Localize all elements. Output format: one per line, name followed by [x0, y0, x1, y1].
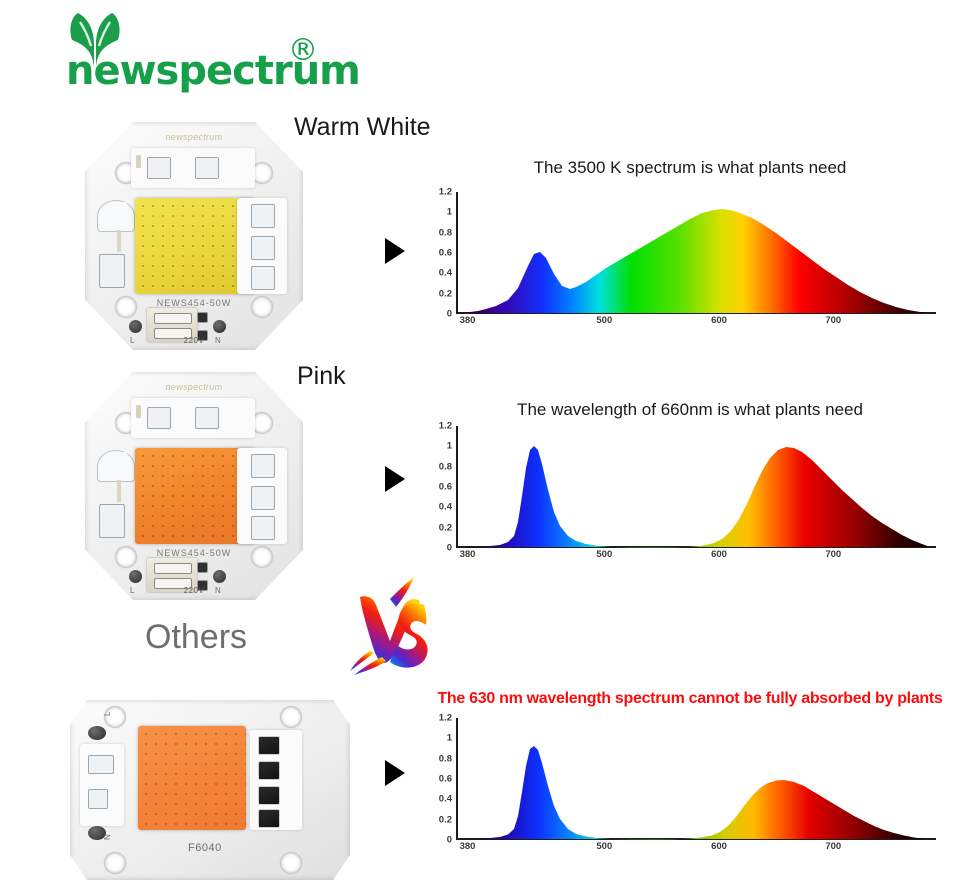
x-tick: 380 — [460, 549, 476, 560]
terminal-pad-live — [88, 726, 106, 740]
plot-area: 1.2 1 0.8 0.6 0.4 0.2 0 380 500 600 700 — [456, 192, 936, 314]
connector-slot — [154, 563, 192, 574]
x-tick: 380 — [460, 841, 476, 852]
chip-brand-mark: newspectrum — [166, 382, 223, 392]
chip-contact-block — [258, 761, 280, 780]
led-chip-warm-white: newspectrum NEWS454-50W L N 220V — [85, 122, 303, 350]
y-tick: 1.2 — [439, 713, 452, 724]
chip-pad-cell — [99, 254, 125, 288]
chart-title: The 630 nm wavelength spectrum cannot be… — [437, 690, 942, 708]
mounting-hole — [251, 296, 273, 318]
plot-area: 1.2 1 0.8 0.6 0.4 0.2 0 380 500 600 700 — [456, 426, 936, 548]
product-label-others: Others — [145, 618, 247, 657]
y-tick: 0.2 — [439, 814, 452, 825]
y-tick: 0.6 — [439, 774, 452, 785]
pointer-arrow-others — [385, 760, 405, 786]
spectrum-chart-warm-white: The 3500 K spectrum is what plants need … — [430, 158, 950, 333]
chip-marker — [136, 405, 141, 418]
y-tick: 1 — [447, 207, 452, 218]
mounting-hole — [115, 296, 137, 318]
chip-marker — [117, 230, 121, 252]
chip-brand-mark: newspectrum — [166, 132, 223, 142]
x-tick: 600 — [711, 841, 727, 852]
chip-pad-cell — [251, 266, 275, 290]
chip-side-panel — [237, 198, 287, 294]
pointer-arrow-pink — [385, 466, 405, 492]
chip-hook-slot — [111, 452, 127, 478]
chip-contact-block — [258, 736, 280, 755]
chip-model-label: NEWS454-50W — [157, 548, 232, 558]
versus-flame-icon — [340, 575, 448, 677]
led-chip-others: L N F6040 — [70, 700, 350, 880]
y-tick: 1.2 — [439, 421, 452, 432]
chip-top-panel — [131, 398, 255, 438]
chip-hook-slot — [111, 202, 127, 228]
chip-voltage-label: 220V — [184, 586, 205, 595]
x-tick: 700 — [825, 549, 841, 560]
product-label-warm-white: Warm White — [294, 113, 431, 142]
terminal-label-live: L — [103, 712, 112, 716]
chart-title: The 3500 K spectrum is what plants need — [534, 158, 847, 178]
chip-model-label: NEWS454-50W — [157, 298, 232, 308]
x-tick: 500 — [596, 549, 612, 560]
product-label-pink: Pink — [297, 362, 346, 391]
x-tick: 700 — [825, 315, 841, 326]
chip-pad-cell — [251, 204, 275, 228]
y-tick: 0.2 — [439, 522, 452, 533]
mounting-hole — [104, 706, 126, 728]
chip-pad-cell — [251, 516, 275, 540]
y-tick: 0.8 — [439, 461, 452, 472]
terminal-pad-neutral — [213, 570, 226, 583]
terminal-label-neutral: N — [215, 586, 221, 595]
chip-marker — [136, 155, 141, 168]
chip-pad-cell — [147, 157, 171, 179]
led-chip-pink: newspectrum NEWS454-50W L N 220V — [85, 372, 303, 600]
mounting-hole — [115, 546, 137, 568]
mounting-hole — [280, 706, 302, 728]
y-tick: 0.4 — [439, 502, 452, 513]
y-tick: 1.2 — [439, 187, 452, 198]
y-tick: 0.8 — [439, 227, 452, 238]
chip-pad-cell — [251, 454, 275, 478]
mounting-hole — [251, 546, 273, 568]
y-tick: 0.4 — [439, 268, 452, 279]
mounting-hole — [280, 852, 302, 874]
chip-pad-cell — [88, 789, 108, 809]
terminal-label-neutral: N — [103, 834, 112, 840]
terminal-label-live: L — [130, 586, 134, 595]
y-tick: 0 — [447, 309, 452, 320]
spectrum-curve — [456, 718, 936, 840]
chip-contact-block — [258, 786, 280, 805]
y-tick: 0.6 — [439, 248, 452, 259]
chip-pad-cell — [195, 157, 219, 179]
x-tick: 500 — [596, 841, 612, 852]
chip-pad-cell — [147, 407, 171, 429]
x-tick: 600 — [711, 315, 727, 326]
chip-right-panel — [250, 730, 302, 830]
terminal-pad-live — [129, 570, 142, 583]
spectrum-curve — [456, 192, 936, 314]
chip-marker — [117, 480, 121, 502]
terminal-label-live: L — [130, 336, 134, 345]
chip-pad-cell — [99, 504, 125, 538]
pointer-arrow-warm-white — [385, 238, 405, 264]
chip-pad-cell — [251, 486, 275, 510]
connector-pin — [197, 562, 208, 573]
x-tick: 380 — [460, 315, 476, 326]
chip-voltage-label: 220V — [184, 336, 205, 345]
plot-area: 1.2 1 0.8 0.6 0.4 0.2 0 380 500 600 700 — [456, 718, 936, 840]
terminal-label-neutral: N — [215, 336, 221, 345]
x-tick: 500 — [596, 315, 612, 326]
brand-logo: newspectrum ® — [62, 8, 332, 96]
x-tick: 600 — [711, 549, 727, 560]
chip-model-label: F6040 — [188, 842, 222, 854]
y-tick: 0 — [447, 835, 452, 846]
chip-side-panel — [237, 448, 287, 544]
y-tick: 0.4 — [439, 794, 452, 805]
connector-slot — [154, 313, 192, 324]
y-tick: 1 — [447, 441, 452, 452]
chip-contact-block — [258, 809, 280, 828]
connector-pin — [197, 312, 208, 323]
y-tick: 0.6 — [439, 482, 452, 493]
y-tick: 0.2 — [439, 288, 452, 299]
chip-pad-cell — [251, 236, 275, 260]
chip-top-panel — [131, 148, 255, 188]
mounting-hole — [104, 852, 126, 874]
chip-pad-cell — [195, 407, 219, 429]
terminal-pad-neutral — [213, 320, 226, 333]
registered-trademark-icon: ® — [288, 36, 318, 66]
chip-pad-cell — [88, 755, 114, 774]
y-tick: 1 — [447, 733, 452, 744]
y-tick: 0 — [447, 543, 452, 554]
chip-left-panel — [80, 744, 124, 826]
x-tick: 700 — [825, 841, 841, 852]
cob-emitter-surface — [138, 726, 246, 830]
y-tick: 0.8 — [439, 753, 452, 764]
spectrum-chart-others: The 630 nm wavelength spectrum cannot be… — [430, 690, 950, 865]
terminal-pad-live — [129, 320, 142, 333]
spectrum-chart-pink: The wavelength of 660nm is what plants n… — [430, 400, 950, 570]
spectrum-curve — [456, 426, 936, 548]
chart-title: The wavelength of 660nm is what plants n… — [517, 400, 863, 420]
